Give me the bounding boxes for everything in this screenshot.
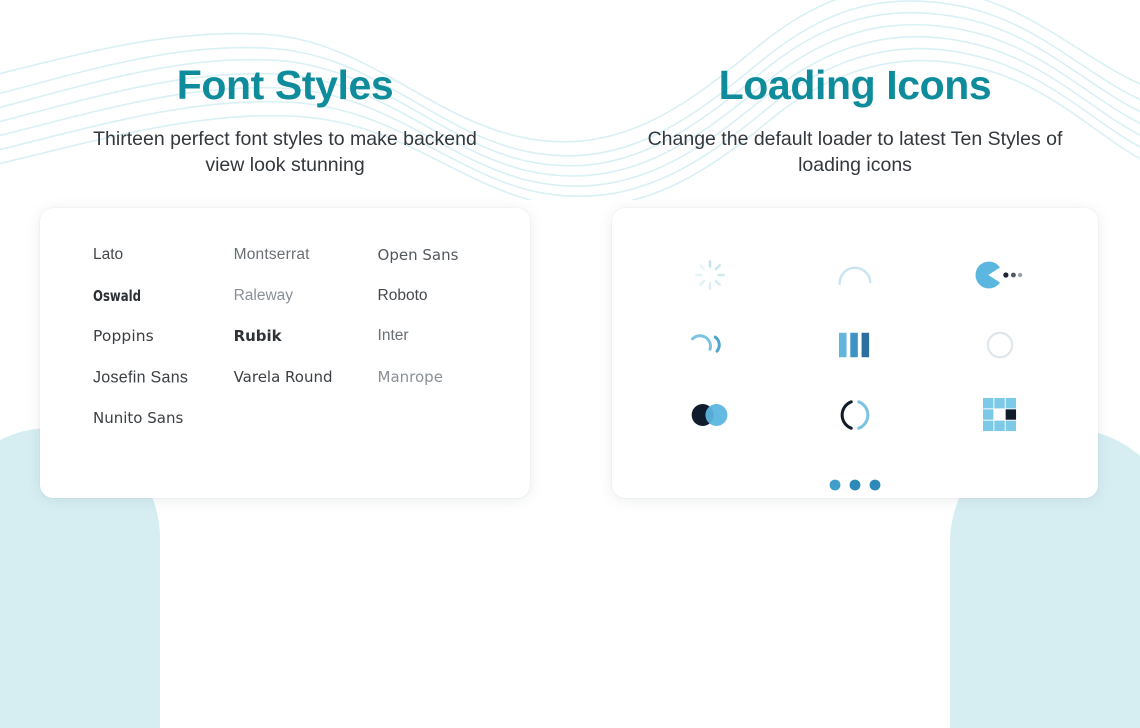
three-dots-icon[interactable] — [827, 457, 883, 513]
font-styles-card: Lato Montserrat Open Sans Oswald Raleway… — [40, 208, 530, 498]
spoke-spinner-icon[interactable] — [682, 247, 738, 303]
grid-blocks-icon[interactable] — [972, 387, 1028, 443]
font-item-roboto[interactable]: Roboto — [378, 287, 490, 306]
double-arc-icon[interactable] — [682, 317, 738, 373]
font-item-inter[interactable]: Inter — [378, 327, 490, 346]
loading-icons-heading: Loading Icons — [719, 0, 992, 109]
two-circles-icon[interactable] — [682, 387, 738, 443]
font-styles-subheading: Thirteen perfect font styles to make bac… — [75, 109, 495, 179]
font-item-nunito-sans[interactable]: Nunito Sans — [93, 409, 234, 427]
font-item-open-sans[interactable]: Open Sans — [378, 246, 490, 265]
font-item-raleway[interactable]: Raleway — [234, 287, 378, 306]
loading-icons-panel: Loading Icons Change the default loader … — [570, 0, 1140, 578]
loading-icons-subheading: Change the default loader to latest Ten … — [645, 109, 1065, 179]
font-item-lato[interactable]: Lato — [93, 246, 234, 265]
font-item-oswald[interactable]: Oswald — [93, 287, 211, 306]
loader-icon-grid — [638, 234, 1072, 520]
font-item-manrope[interactable]: Manrope — [378, 368, 490, 387]
arc-spinner-icon[interactable] — [827, 247, 883, 303]
brackets-arc-icon[interactable] — [827, 387, 883, 443]
font-styles-heading: Font Styles — [177, 0, 394, 109]
page-root: Font Styles Thirteen perfect font styles… — [0, 0, 1140, 578]
font-item-varela-round[interactable]: Varela Round — [234, 368, 378, 387]
loading-icons-card — [612, 208, 1098, 498]
font-list-grid: Lato Montserrat Open Sans Oswald Raleway… — [93, 246, 490, 427]
pacman-dots-icon[interactable] — [972, 247, 1028, 303]
ring-outline-icon[interactable] — [972, 317, 1028, 373]
three-bars-icon[interactable] — [827, 317, 883, 373]
font-item-rubik[interactable]: Rubik — [234, 327, 378, 346]
font-item-poppins[interactable]: Poppins — [93, 327, 234, 346]
font-item-montserrat[interactable]: Montserrat — [234, 246, 378, 265]
font-item-josefin-sans[interactable]: Josefin Sans — [93, 367, 234, 387]
font-styles-panel: Font Styles Thirteen perfect font styles… — [0, 0, 570, 578]
